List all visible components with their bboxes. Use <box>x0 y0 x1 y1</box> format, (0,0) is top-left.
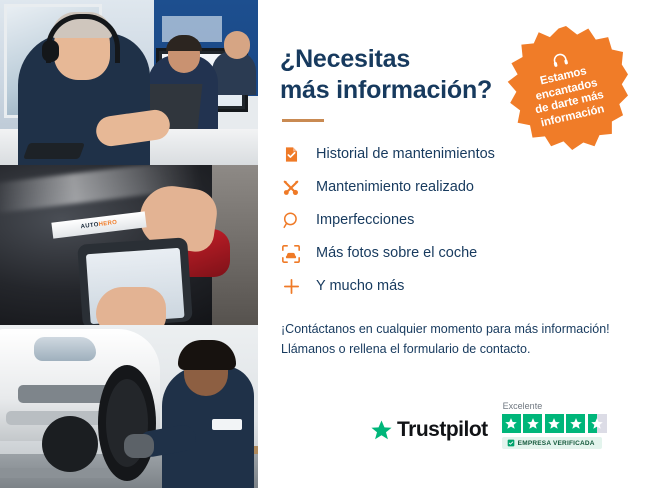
information-banner: AUTOHERO ¿Necesitas má <box>0 0 650 488</box>
headset-earcup <box>42 40 59 62</box>
agent-three-head <box>224 31 250 59</box>
car-scan-icon <box>280 243 302 265</box>
list-item-label: Y mucho más <box>316 279 404 294</box>
mechanic-wheel-inspection-photo <box>0 325 258 488</box>
list-item-label: Mantenimiento realizado <box>316 180 474 195</box>
plus-icon <box>280 276 302 298</box>
verified-label: EMPRESA VERIFICADA <box>518 440 595 447</box>
uniform-logo <box>212 419 242 430</box>
list-item-label: Historial de mantenimientos <box>316 147 495 162</box>
car-grille <box>18 385 110 403</box>
star-filled <box>523 414 542 433</box>
document-check-icon <box>280 144 302 166</box>
star-half <box>588 414 607 433</box>
ruler-brand-auto: AUTO <box>80 222 99 230</box>
feature-list: Historial de mantenimientos Mantenimient… <box>280 138 580 303</box>
star-filled <box>545 414 564 433</box>
list-item: Historial de mantenimientos <box>280 138 580 171</box>
list-item: Y mucho más <box>280 270 580 303</box>
promo-badge-text: Estamos encantados de darte más informac… <box>511 59 625 135</box>
trustpilot-star-icon <box>370 419 393 442</box>
list-item: Más fotos sobre el coche <box>280 237 580 270</box>
star-rating <box>502 414 607 433</box>
contact-copy: ¡Contáctanos en cualquier momento para m… <box>281 319 633 360</box>
contact-line-1: ¡Contáctanos en cualquier momento para m… <box>281 319 633 339</box>
list-item-label: Imperfecciones <box>316 213 414 228</box>
tools-icon <box>280 177 302 199</box>
contact-line-2: Llámanos o rellena el formulario de cont… <box>281 339 633 359</box>
promo-badge: Estamos encantados de darte más informac… <box>504 26 628 150</box>
content-panel: ¿Necesitas más información? Estamos enca… <box>258 0 650 488</box>
mechanic-hair <box>178 340 236 370</box>
rear-wheel <box>42 416 98 472</box>
rating-label: Excelente <box>503 401 607 411</box>
front-wheel <box>98 365 156 481</box>
page-title: ¿Necesitas más información? <box>280 44 530 105</box>
promo-badge-inner: Estamos encantados de darte más informac… <box>507 41 625 136</box>
trustpilot-logo[interactable]: Trustpilot <box>370 418 488 452</box>
title-divider <box>282 119 324 122</box>
car-headlight <box>34 337 96 361</box>
trustpilot-wordmark: Trustpilot <box>397 418 488 442</box>
list-item: Imperfecciones <box>280 204 580 237</box>
list-item-label: Más fotos sobre el coche <box>316 246 477 261</box>
magnifier-icon <box>280 210 302 232</box>
star-filled <box>566 414 585 433</box>
trustpilot-score-block: Excelente <box>502 401 607 452</box>
check-badge-icon <box>507 439 515 447</box>
mechanic-glove <box>124 434 154 458</box>
trustpilot-rating[interactable]: Trustpilot Excelente <box>370 401 607 452</box>
call-center-agents-photo <box>0 0 258 165</box>
list-item: Mantenimiento realizado <box>280 171 580 204</box>
photo-column: AUTOHERO <box>0 0 258 488</box>
car-inspection-ruler-tablet-photo: AUTOHERO <box>0 165 258 325</box>
desk-tablet <box>23 143 85 159</box>
headset-icon <box>549 50 569 70</box>
ruler-brand-hero: HERO <box>98 220 117 228</box>
status-badge: EMPRESA VERIFICADA <box>502 437 602 449</box>
headline-line-1: ¿Necesitas <box>280 45 410 73</box>
star-filled <box>502 414 521 433</box>
inspector-hand-lower <box>96 287 166 325</box>
headline-line-2: más información? <box>280 76 492 104</box>
